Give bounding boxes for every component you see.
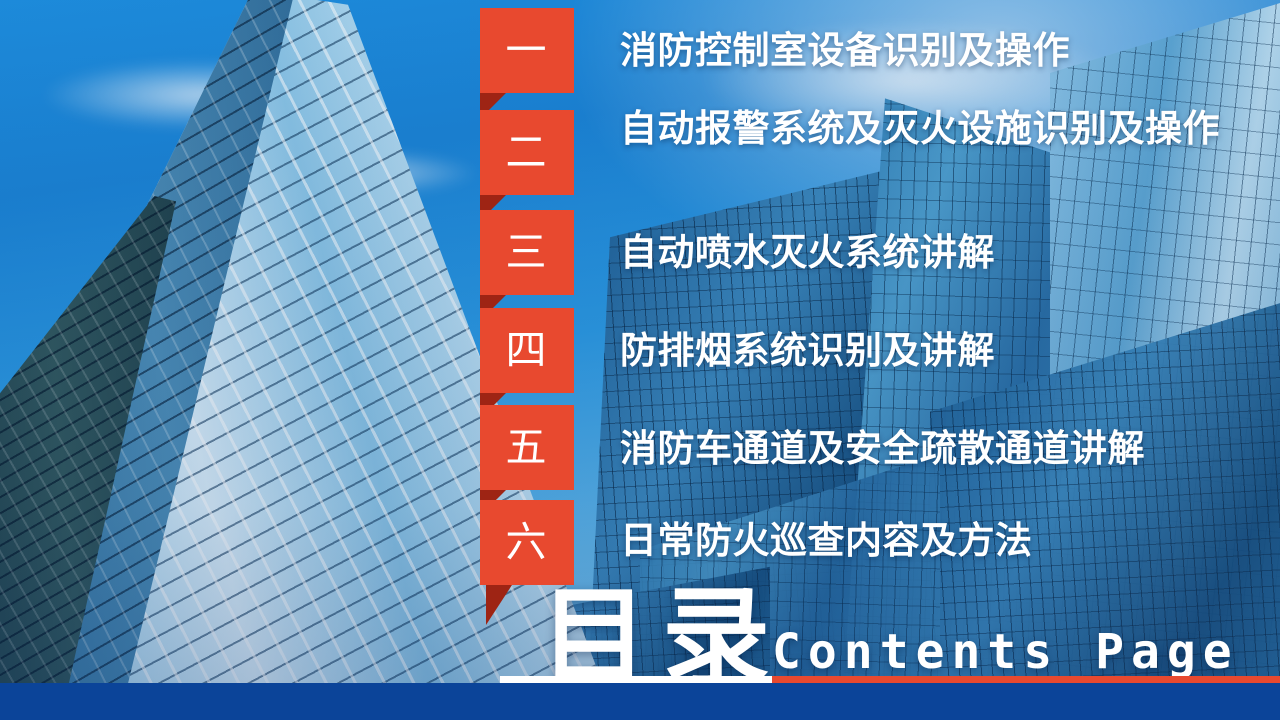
- chip-number-label: 三: [506, 232, 549, 273]
- contents-slide: 一 二 三 四 五 六 消防控制室设备识别及操作 自动报警系统及灭火设施识别及操…: [0, 0, 1280, 720]
- title-underline-red: [772, 676, 1280, 683]
- contents-number-chip-1[interactable]: 一: [480, 8, 574, 93]
- contents-item-title-6[interactable]: 日常防火巡查内容及方法: [620, 520, 1280, 562]
- title-underline-white: [500, 676, 772, 683]
- ribbon-tail-icon: [486, 585, 512, 625]
- slide-content: 一 二 三 四 五 六 消防控制室设备识别及操作 自动报警系统及灭火设施识别及操…: [0, 0, 1280, 720]
- bottom-accent-bar: [0, 683, 1280, 720]
- chip-number-label: 五: [506, 427, 549, 468]
- contents-item-title-1[interactable]: 消防控制室设备识别及操作: [620, 30, 1280, 72]
- contents-number-chip-5[interactable]: 五: [480, 405, 574, 490]
- contents-number-chip-3[interactable]: 三: [480, 210, 574, 295]
- chip-number-label: 四: [506, 330, 549, 371]
- chip-number-label: 一: [506, 30, 549, 71]
- contents-item-title-2[interactable]: 自动报警系统及灭火设施识别及操作: [620, 108, 1280, 150]
- contents-item-title-3[interactable]: 自动喷水灭火系统讲解: [620, 232, 1280, 274]
- contents-number-chip-2[interactable]: 二: [480, 110, 574, 195]
- chip-number-label: 二: [506, 132, 549, 173]
- contents-number-chip-6[interactable]: 六: [480, 500, 574, 585]
- contents-item-title-5[interactable]: 消防车通道及安全疏散通道讲解: [620, 428, 1280, 470]
- contents-item-title-4[interactable]: 防排烟系统识别及讲解: [620, 330, 1280, 372]
- contents-number-chip-4[interactable]: 四: [480, 308, 574, 393]
- chip-number-label: 六: [506, 522, 549, 563]
- page-title-english: Contents Page: [772, 628, 1239, 676]
